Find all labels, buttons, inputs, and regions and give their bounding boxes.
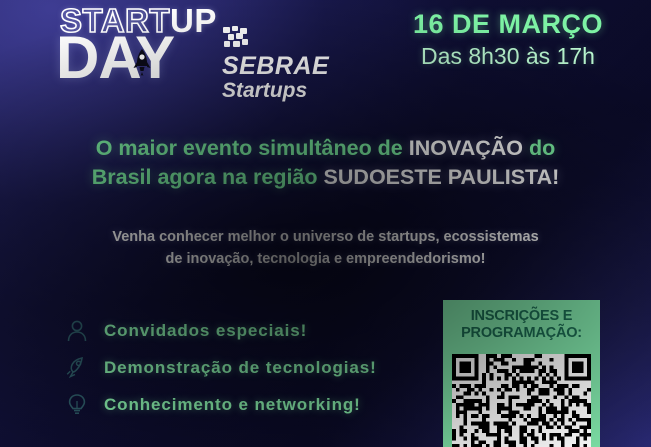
headline-line1-part1: O maior evento simultâneo de — [96, 136, 409, 160]
headline-line-2: Brasil agora na região SUDOESTE PAULISTA… — [0, 163, 651, 192]
list-item: Demonstração de tecnologias! — [62, 349, 432, 386]
list-item-label: Conhecimento e networking! — [104, 395, 361, 415]
event-time: Das 8h30 às 17h — [393, 42, 623, 71]
rocket-icon — [131, 48, 153, 78]
list-item-label: Convidados especiais! — [104, 321, 307, 341]
poster-header: STARTUP DAY — [0, 0, 651, 112]
qr-panel-title: INSCRIÇÕES E PROGRAMAÇÃO: — [443, 300, 600, 342]
event-date-block: 16 DE MARÇO Das 8h30 às 17h — [393, 10, 623, 70]
headline-emphasis-inovacao: INOVAÇÃO — [409, 136, 523, 160]
registration-qr-panel[interactable]: INSCRIÇÕES E PROGRAMAÇÃO: — [443, 300, 600, 447]
subheading-line-2: de inovação, tecnologia e empreendedoris… — [0, 249, 651, 271]
subheading: Venha conhecer melhor o universo de star… — [0, 227, 651, 271]
feature-list: Convidados especiais! Demonstração de te… — [62, 312, 432, 423]
headline-line1-part3: do — [523, 136, 555, 160]
list-item-label: Demonstração de tecnologias! — [104, 358, 377, 378]
sebrae-mark-icon — [222, 26, 252, 52]
headline: O maior evento simultâneo de INOVAÇÃO do… — [0, 134, 651, 191]
qr-panel-title-line-1: INSCRIÇÕES E — [443, 308, 600, 325]
qr-code-icon[interactable] — [452, 354, 591, 447]
list-item: Conhecimento e networking! — [62, 386, 432, 423]
sebrae-name: SEBRAE — [222, 54, 352, 79]
rocket-icon — [62, 353, 92, 383]
sebrae-sub: Startups — [222, 79, 352, 102]
subheading-line-1: Venha conhecer melhor o universo de star… — [0, 227, 651, 249]
sebrae-startups-logo: SEBRAE Startups — [222, 26, 352, 102]
event-date: 16 DE MARÇO — [393, 10, 623, 40]
lightbulb-icon — [62, 390, 92, 420]
list-item: Convidados especiais! — [62, 312, 432, 349]
person-icon — [62, 316, 92, 346]
day-wordmark: DAY — [56, 28, 174, 88]
headline-line2-part1: Brasil agora na região — [92, 165, 324, 189]
startup-wordmark-solid: UP — [170, 2, 217, 39]
event-poster: STARTUP DAY — [0, 0, 651, 447]
headline-line-1: O maior evento simultâneo de INOVAÇÃO do — [0, 134, 651, 163]
qr-panel-title-line-2: PROGRAMAÇÃO: — [443, 325, 600, 342]
headline-emphasis-sudoeste: SUDOESTE PAULISTA! — [324, 165, 560, 189]
